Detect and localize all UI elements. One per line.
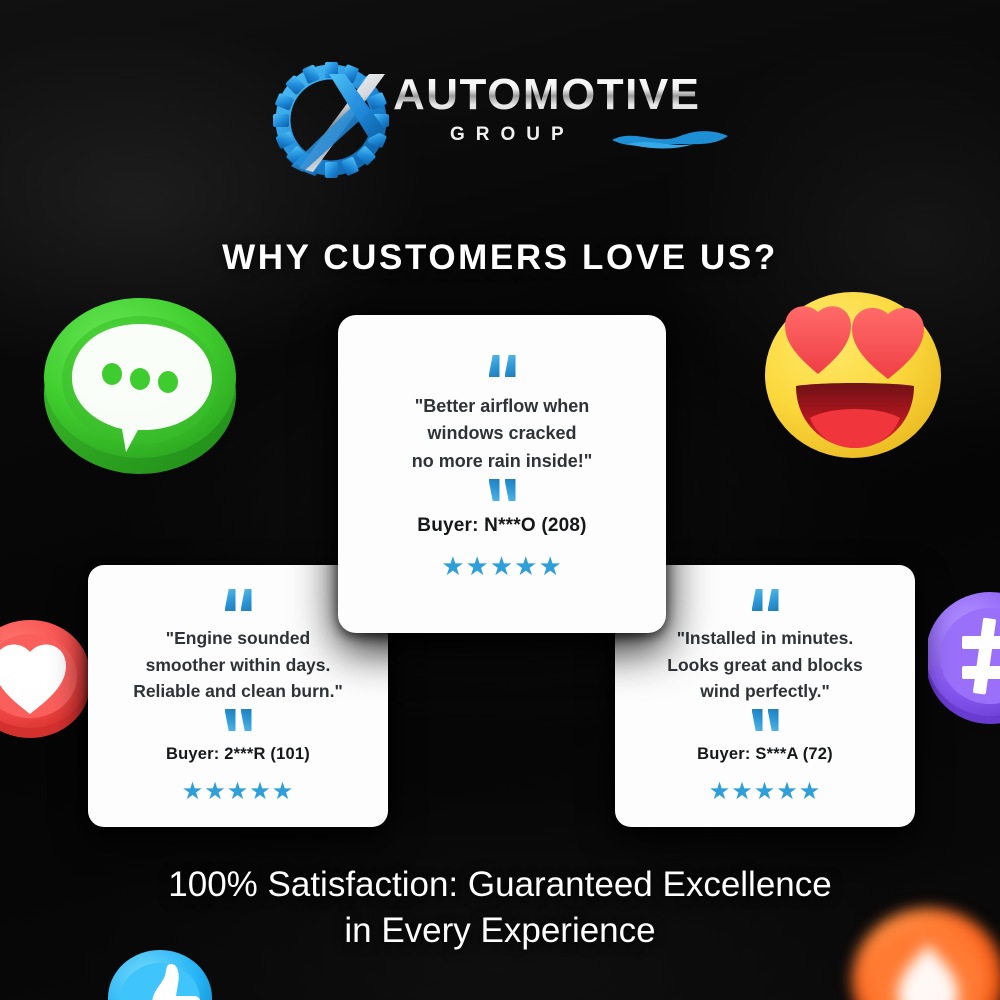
page-title: WHY CUSTOMERS LOVE US? (0, 238, 1000, 278)
tagline: 100% Satisfaction: Guaranteed Excellence… (0, 862, 1000, 954)
brand-logo: AUTOMOTIVE GROUP (0, 58, 1000, 188)
testimonial-quote: "Installed in minutes. Looks great and b… (615, 625, 915, 705)
swoosh-icon (610, 124, 730, 152)
heart-icon (0, 612, 94, 745)
testimonial-buyer: Buyer: 2***R (101) (88, 745, 388, 764)
logo-wordmark: AUTOMOTIVE (393, 70, 701, 120)
testimonial-buyer: Buyer: S***A (72) (615, 745, 915, 764)
promo-poster: AUTOMOTIVE GROUP WHY CUSTOMERS LOVE US? … (0, 0, 1000, 1000)
gear-icon (273, 60, 393, 178)
quote-close-icon (88, 709, 388, 731)
testimonial-buyer: Buyer: N***O (208) (338, 515, 666, 537)
chat-bubble-icon (40, 282, 245, 482)
logo-subtitle: GROUP (450, 124, 575, 146)
star-rating: ★★★★★ (88, 780, 388, 804)
quote-open-icon (338, 355, 666, 377)
hashtag-icon (928, 580, 1000, 735)
heart-eyes-emoji-icon (758, 278, 948, 473)
star-rating: ★★★★★ (338, 553, 666, 579)
quote-close-icon (615, 709, 915, 731)
star-rating: ★★★★★ (615, 780, 915, 804)
quote-close-icon (338, 479, 666, 501)
testimonial-card-center: "Better airflow when windows cracked no … (338, 315, 666, 633)
testimonial-quote: "Better airflow when windows cracked no … (338, 393, 666, 475)
testimonial-quote: "Engine sounded smoother within days. Re… (88, 625, 388, 705)
thumbs-up-icon (108, 948, 213, 1000)
